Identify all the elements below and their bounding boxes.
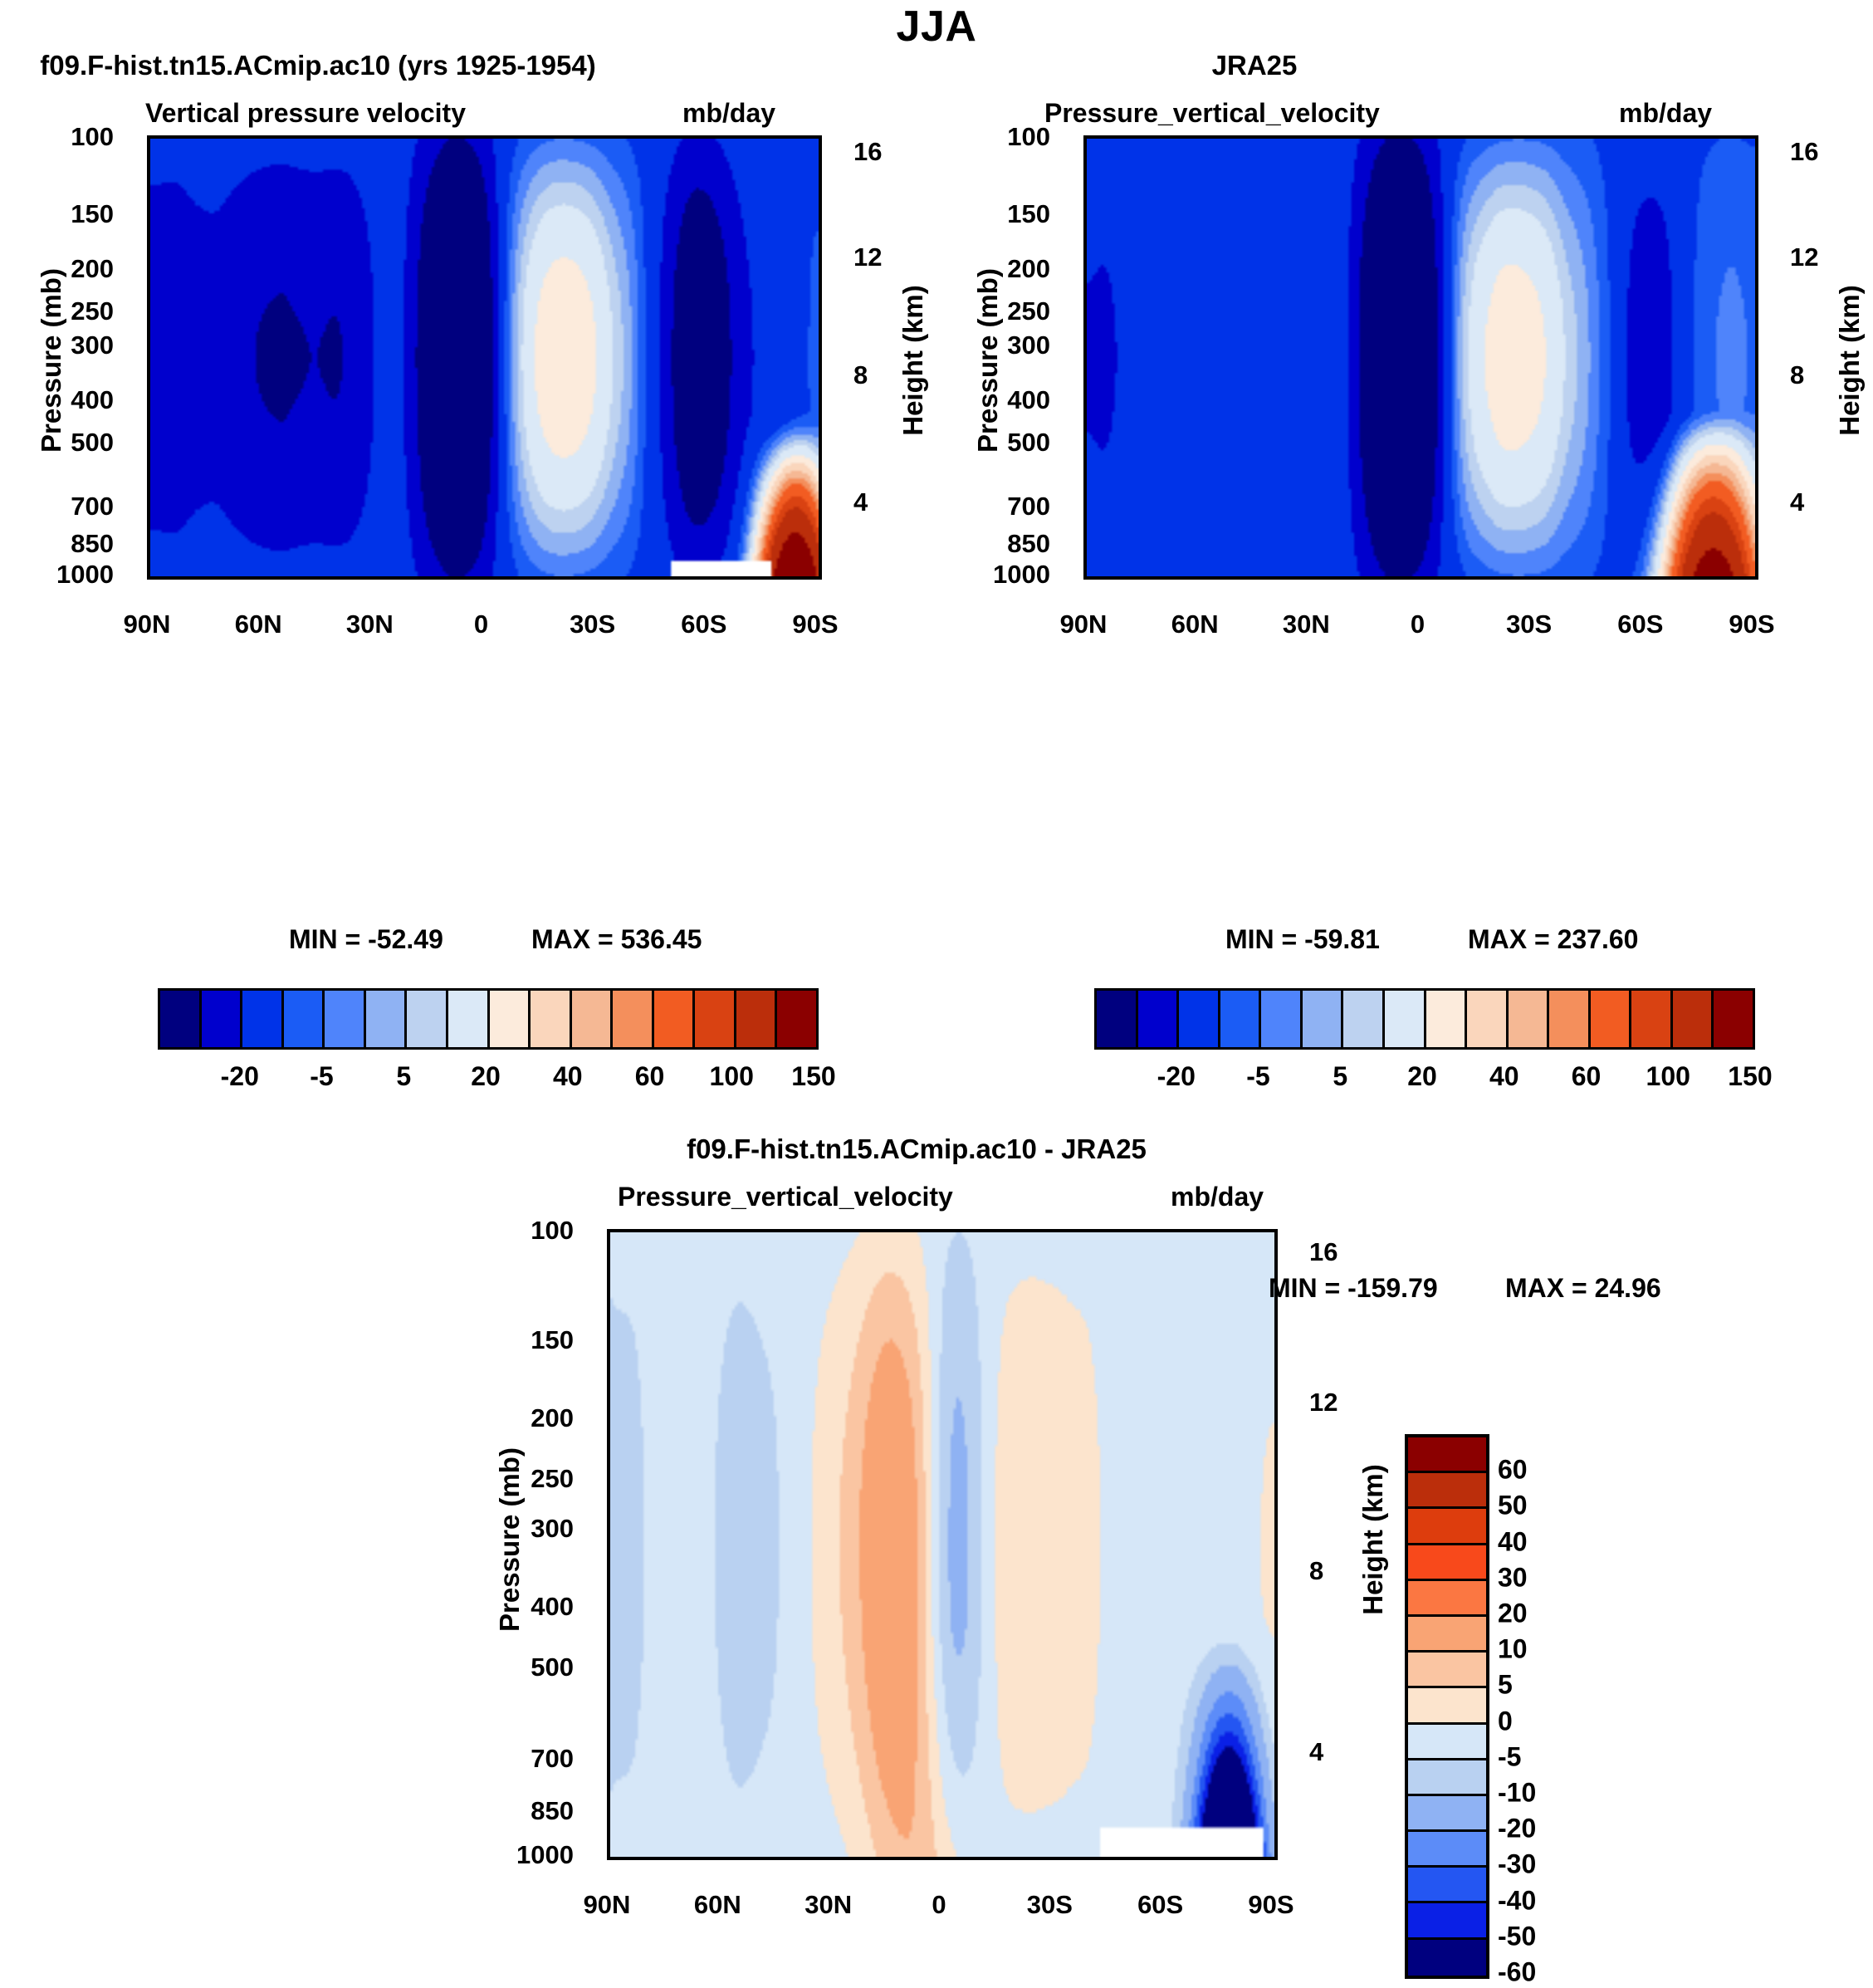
latitude-minor-tick bbox=[1494, 578, 1498, 580]
panel-obs-units-label: mb/day bbox=[1619, 98, 1712, 129]
latitude-minor-tick bbox=[1605, 578, 1609, 580]
latitude-minor-tick bbox=[1122, 135, 1127, 137]
latitude-tick bbox=[830, 1229, 834, 1231]
latitude-minor-tick bbox=[1605, 135, 1609, 137]
colorbar-tick-label: 60 bbox=[635, 1061, 665, 1092]
latitude-minor-tick bbox=[1236, 1229, 1240, 1231]
colorbar-cell[interactable] bbox=[695, 991, 736, 1047]
latitude-tick bbox=[1420, 135, 1424, 137]
latitude-minor-tick bbox=[408, 578, 413, 580]
panel-diff-max-label: MAX = 24.96 bbox=[1505, 1273, 1661, 1304]
pressure-minor-tick bbox=[1083, 187, 1085, 191]
latitude-tick-label: 60N bbox=[1171, 610, 1219, 639]
colorbar-cell[interactable] bbox=[1408, 1509, 1486, 1545]
height-tick bbox=[1757, 257, 1758, 262]
latitude-tick-label: 60S bbox=[681, 610, 726, 639]
pressure-tick-label: 700 bbox=[952, 492, 1050, 521]
panel-model-y-right-axis-title: Height (km) bbox=[897, 236, 929, 485]
pressure-tick bbox=[1083, 544, 1085, 548]
latitude-minor-tick bbox=[1382, 135, 1386, 137]
pressure-tick-label: 200 bbox=[952, 254, 1050, 284]
pressure-tick bbox=[607, 1855, 609, 1859]
latitude-minor-tick bbox=[186, 578, 190, 580]
pressure-tick-label: 150 bbox=[16, 199, 114, 229]
height-tick bbox=[820, 257, 822, 262]
latitude-minor-tick bbox=[1716, 135, 1720, 137]
pressure-tick bbox=[147, 137, 149, 141]
pressure-tick bbox=[1083, 311, 1085, 316]
panel-obs: JRA25 Pressure_vertical_velocity mb/day … bbox=[936, 50, 1873, 1154]
latitude-tick bbox=[1162, 1858, 1166, 1860]
pressure-tick-label: 700 bbox=[16, 492, 114, 521]
panel-model-title: f09.F-hist.tn15.ACmip.ac10 (yrs 1925-195… bbox=[40, 50, 595, 81]
colorbar-cell[interactable] bbox=[490, 991, 531, 1047]
pressure-minor-tick bbox=[147, 375, 149, 379]
colorbar-cell[interactable] bbox=[1408, 1473, 1486, 1509]
latitude-minor-tick bbox=[297, 135, 301, 137]
latitude-minor-tick bbox=[977, 1229, 981, 1231]
pressure-tick-label: 500 bbox=[952, 428, 1050, 458]
height-tick-label: 8 bbox=[1790, 360, 1804, 390]
pressure-tick bbox=[147, 311, 149, 316]
colorbar-tick-label: 50 bbox=[1498, 1491, 1528, 1521]
latitude-minor-tick bbox=[780, 135, 784, 137]
pressure-minor-tick bbox=[1083, 492, 1085, 497]
latitude-minor-tick bbox=[631, 135, 635, 137]
latitude-minor-tick bbox=[1494, 135, 1498, 137]
pressure-tick-label: 400 bbox=[16, 385, 114, 415]
pressure-minor-tick bbox=[147, 520, 149, 524]
latitude-minor-tick bbox=[1236, 1858, 1240, 1860]
latitude-tick-label: 30N bbox=[346, 610, 394, 639]
colorbar-cell[interactable] bbox=[366, 991, 408, 1047]
latitude-minor-tick bbox=[186, 135, 190, 137]
colorbar-tick-label: -20 bbox=[1498, 1814, 1536, 1844]
colorbar-cell[interactable] bbox=[1426, 991, 1468, 1047]
colorbar-cell[interactable] bbox=[777, 991, 816, 1047]
pressure-minor-tick bbox=[607, 1841, 609, 1845]
pressure-tick-label: 300 bbox=[952, 331, 1050, 360]
colorbar-cell[interactable] bbox=[1220, 991, 1262, 1047]
colorbar-tick-label: -20 bbox=[221, 1061, 259, 1092]
colorbar-cell[interactable] bbox=[572, 991, 614, 1047]
pressure-tick-label: 400 bbox=[476, 1592, 574, 1622]
colorbar-tick-label: 40 bbox=[1489, 1061, 1519, 1092]
colorbar-cell[interactable] bbox=[1408, 1688, 1486, 1724]
pressure-minor-tick bbox=[1083, 461, 1085, 465]
pressure-tick-label: 700 bbox=[476, 1744, 574, 1774]
latitude-tick bbox=[817, 135, 821, 137]
colorbar-cell[interactable] bbox=[1408, 1653, 1486, 1688]
latitude-minor-tick bbox=[1716, 578, 1720, 580]
colorbar-cell[interactable] bbox=[1408, 1437, 1486, 1473]
pressure-tick bbox=[607, 1607, 609, 1611]
pressure-minor-tick bbox=[607, 1716, 609, 1721]
latitude-minor-tick bbox=[557, 578, 561, 580]
colorbar-cell[interactable] bbox=[1591, 991, 1632, 1047]
pressure-minor-tick bbox=[1083, 555, 1085, 559]
pressure-tick-label: 500 bbox=[476, 1653, 574, 1682]
latitude-tick-label: 0 bbox=[474, 610, 488, 639]
pressure-tick-label: 400 bbox=[952, 385, 1050, 415]
colorbar-tick-label: 10 bbox=[1498, 1634, 1528, 1665]
colorbar-cell[interactable] bbox=[1549, 991, 1591, 1047]
latitude-tick bbox=[483, 135, 487, 137]
pressure-tick-label: 100 bbox=[952, 122, 1050, 152]
latitude-tick-label: 60S bbox=[1137, 1890, 1183, 1920]
height-tick bbox=[820, 375, 822, 379]
colorbar-cell[interactable] bbox=[1385, 991, 1426, 1047]
latitude-minor-tick bbox=[1199, 1229, 1203, 1231]
pressure-tick bbox=[147, 507, 149, 511]
latitude-tick bbox=[260, 578, 264, 580]
colorbar-cell[interactable] bbox=[1714, 991, 1753, 1047]
colorbar-cell[interactable] bbox=[407, 991, 448, 1047]
panel-model-max-label: MAX = 536.45 bbox=[531, 924, 702, 955]
pressure-tick-label: 250 bbox=[16, 296, 114, 326]
colorbar-cell[interactable] bbox=[531, 991, 572, 1047]
colorbar-cell[interactable] bbox=[1408, 1832, 1486, 1868]
latitude-tick bbox=[1753, 578, 1758, 580]
pressure-minor-tick bbox=[607, 1570, 609, 1574]
pressure-tick-label: 200 bbox=[476, 1403, 574, 1433]
panel-diff-colorbar[interactable] bbox=[1405, 1434, 1489, 1979]
pressure-minor-tick bbox=[607, 1827, 609, 1831]
colorbar-cell[interactable] bbox=[1631, 991, 1673, 1047]
pressure-minor-tick bbox=[147, 532, 149, 536]
latitude-tick bbox=[941, 1858, 945, 1860]
latitude-minor-tick bbox=[645, 1229, 649, 1231]
colorbar-tick-label: 60 bbox=[1572, 1061, 1602, 1092]
colorbar-cell[interactable] bbox=[1408, 1760, 1486, 1796]
latitude-minor-tick bbox=[1088, 1229, 1093, 1231]
pressure-tick-label: 850 bbox=[476, 1796, 574, 1826]
colorbar-tick-label: -20 bbox=[1157, 1061, 1196, 1092]
pressure-tick bbox=[1083, 443, 1085, 447]
latitude-minor-tick bbox=[1015, 1858, 1019, 1860]
pressure-minor-tick bbox=[147, 423, 149, 427]
latitude-tick-label: 30S bbox=[1027, 1890, 1073, 1920]
panel-model: f09.F-hist.tn15.ACmip.ac10 (yrs 1925-195… bbox=[0, 50, 936, 1154]
panel-diff-contour-field bbox=[610, 1232, 1274, 1857]
colorbar-tick-label: 20 bbox=[1407, 1061, 1437, 1092]
colorbar-cell[interactable] bbox=[1408, 1868, 1486, 1903]
latitude-minor-tick bbox=[446, 578, 450, 580]
pressure-tick bbox=[607, 1811, 609, 1815]
pressure-tick-label: 300 bbox=[476, 1514, 574, 1544]
colorbar-cell[interactable] bbox=[613, 991, 654, 1047]
latitude-tick bbox=[1273, 1229, 1277, 1231]
height-tick-label: 4 bbox=[853, 487, 868, 517]
colorbar-cell[interactable] bbox=[1261, 991, 1303, 1047]
latitude-tick bbox=[1196, 135, 1201, 137]
latitude-tick bbox=[594, 578, 599, 580]
latitude-tick bbox=[149, 578, 153, 580]
colorbar-tick-label: -40 bbox=[1498, 1885, 1536, 1916]
height-tick-label: 12 bbox=[1790, 242, 1818, 272]
latitude-tick-label: 0 bbox=[1411, 610, 1425, 639]
pressure-minor-tick bbox=[147, 237, 149, 242]
panel-diff: f09.F-hist.tn15.ACmip.ac10 - JRA25 Press… bbox=[468, 1134, 1405, 1972]
latitude-minor-tick bbox=[446, 135, 450, 137]
latitude-minor-tick bbox=[780, 578, 784, 580]
latitude-minor-tick bbox=[1680, 578, 1684, 580]
pressure-tick-label: 1000 bbox=[476, 1840, 574, 1870]
panel-diff-title: f09.F-hist.tn15.ACmip.ac10 - JRA25 bbox=[687, 1134, 1147, 1165]
pressure-minor-tick bbox=[147, 461, 149, 465]
height-tick-label: 8 bbox=[1309, 1556, 1323, 1586]
height-tick-label: 12 bbox=[853, 242, 882, 272]
colorbar-cell[interactable] bbox=[1408, 1940, 1486, 1976]
colorbar-cell[interactable] bbox=[325, 991, 366, 1047]
pressure-tick bbox=[607, 1418, 609, 1422]
pressure-minor-tick bbox=[147, 477, 149, 482]
pressure-tick-label: 250 bbox=[952, 296, 1050, 326]
pressure-tick bbox=[147, 443, 149, 447]
latitude-minor-tick bbox=[1456, 135, 1460, 137]
latitude-minor-tick bbox=[668, 578, 672, 580]
pressure-minor-tick bbox=[1083, 259, 1085, 263]
colorbar-cell[interactable] bbox=[654, 991, 696, 1047]
latitude-tick bbox=[149, 135, 153, 137]
pressure-minor-tick bbox=[607, 1693, 609, 1697]
latitude-tick bbox=[1642, 578, 1646, 580]
latitude-minor-tick bbox=[1271, 578, 1275, 580]
pressure-minor-tick bbox=[607, 1405, 609, 1409]
colorbar-cell[interactable] bbox=[1408, 1725, 1486, 1760]
latitude-tick bbox=[1162, 1229, 1166, 1231]
latitude-tick bbox=[1531, 135, 1535, 137]
colorbar-cell[interactable] bbox=[1408, 1796, 1486, 1832]
latitude-minor-tick bbox=[520, 578, 524, 580]
panel-diff-min-label: MIN = -159.79 bbox=[1269, 1273, 1438, 1304]
pressure-tick bbox=[147, 269, 149, 273]
latitude-minor-tick bbox=[1345, 578, 1349, 580]
pressure-tick bbox=[147, 400, 149, 404]
latitude-minor-tick bbox=[1271, 135, 1275, 137]
panel-obs-colorbar[interactable] bbox=[1094, 988, 1755, 1050]
pressure-tick bbox=[1083, 214, 1085, 218]
latitude-tick-label: 30S bbox=[570, 610, 615, 639]
colorbar-tick-label: 5 bbox=[1498, 1670, 1513, 1701]
colorbar-tick-label: 60 bbox=[1498, 1455, 1528, 1486]
colorbar-cell[interactable] bbox=[1408, 1617, 1486, 1653]
latitude-tick-label: 0 bbox=[932, 1890, 946, 1920]
panel-obs-y-right-axis-title: Height (km) bbox=[1834, 236, 1866, 485]
panel-obs-min-label: MIN = -59.81 bbox=[1225, 924, 1380, 955]
latitude-tick bbox=[1420, 578, 1424, 580]
latitude-tick bbox=[594, 135, 599, 137]
latitude-minor-tick bbox=[1088, 1858, 1093, 1860]
colorbar-tick-label: 20 bbox=[471, 1061, 501, 1092]
latitude-tick bbox=[1196, 578, 1201, 580]
colorbar-cell[interactable] bbox=[1673, 991, 1714, 1047]
latitude-minor-tick bbox=[1456, 578, 1460, 580]
height-tick-label: 8 bbox=[853, 360, 868, 390]
pressure-tick bbox=[607, 1529, 609, 1533]
latitude-tick-label: 60N bbox=[235, 610, 282, 639]
colorbar-cell[interactable] bbox=[1408, 1581, 1486, 1617]
latitude-tick bbox=[1642, 135, 1646, 137]
colorbar-cell[interactable] bbox=[1303, 991, 1344, 1047]
panel-obs-contour-field bbox=[1087, 139, 1755, 576]
latitude-minor-tick bbox=[335, 135, 339, 137]
colorbar-cell[interactable] bbox=[1179, 991, 1220, 1047]
pressure-minor-tick bbox=[147, 259, 149, 263]
height-tick bbox=[1276, 1252, 1278, 1256]
colorbar-tick-label: 20 bbox=[1498, 1599, 1528, 1629]
pressure-minor-tick bbox=[607, 1638, 609, 1643]
pressure-tick-label: 300 bbox=[16, 331, 114, 360]
pressure-tick bbox=[607, 1479, 609, 1483]
pressure-minor-tick bbox=[1083, 201, 1085, 205]
pressure-minor-tick bbox=[147, 565, 149, 569]
latitude-tick bbox=[1051, 1229, 1055, 1231]
colorbar-cell[interactable] bbox=[1509, 991, 1550, 1047]
pressure-tick bbox=[1083, 345, 1085, 350]
panel-obs-plot[interactable] bbox=[1083, 135, 1758, 580]
pressure-minor-tick bbox=[607, 1302, 609, 1306]
latitude-tick bbox=[706, 135, 710, 137]
pressure-minor-tick bbox=[607, 1280, 609, 1285]
pressure-tick bbox=[1083, 137, 1085, 141]
latitude-tick-label: 30S bbox=[1506, 610, 1552, 639]
latitude-tick bbox=[371, 135, 375, 137]
latitude-tick-label: 90N bbox=[124, 610, 171, 639]
colorbar-cell[interactable] bbox=[1408, 1903, 1486, 1939]
colorbar-cell[interactable] bbox=[448, 991, 490, 1047]
panel-model-plot[interactable] bbox=[147, 135, 822, 580]
pressure-minor-tick bbox=[147, 249, 149, 253]
latitude-minor-tick bbox=[1567, 135, 1572, 137]
colorbar-cell[interactable] bbox=[1467, 991, 1509, 1047]
latitude-tick bbox=[706, 578, 710, 580]
colorbar-cell[interactable] bbox=[160, 991, 202, 1047]
pressure-minor-tick bbox=[1083, 237, 1085, 242]
colorbar-tick-label: -60 bbox=[1498, 1957, 1536, 1988]
colorbar-tick-label: -5 bbox=[310, 1061, 333, 1092]
colorbar-cell[interactable] bbox=[242, 991, 284, 1047]
latitude-tick bbox=[830, 1858, 834, 1860]
height-tick bbox=[1757, 152, 1758, 156]
pressure-tick bbox=[147, 575, 149, 579]
panel-diff-plot[interactable] bbox=[607, 1229, 1278, 1860]
panel-model-units-label: mb/day bbox=[682, 98, 775, 129]
latitude-minor-tick bbox=[1345, 135, 1349, 137]
pressure-minor-tick bbox=[1083, 520, 1085, 524]
panel-diff-y-right-axis-title: Height (km) bbox=[1357, 1415, 1389, 1664]
colorbar-tick-label: 5 bbox=[1333, 1061, 1347, 1092]
panel-model-colorbar[interactable] bbox=[158, 988, 819, 1050]
pressure-tick bbox=[147, 544, 149, 548]
latitude-tick bbox=[817, 578, 821, 580]
colorbar-cell[interactable] bbox=[1138, 991, 1180, 1047]
colorbar-cell[interactable] bbox=[1408, 1545, 1486, 1581]
panel-obs-max-label: MAX = 237.60 bbox=[1468, 924, 1638, 955]
panel-obs-title: JRA25 bbox=[1212, 50, 1298, 81]
panel-model-variable-label: Vertical pressure velocity bbox=[145, 98, 466, 129]
figure-season-title: JJA bbox=[0, 2, 1873, 51]
latitude-minor-tick bbox=[904, 1858, 908, 1860]
latitude-tick bbox=[1273, 1858, 1277, 1860]
pressure-minor-tick bbox=[1083, 532, 1085, 536]
pressure-minor-tick bbox=[1083, 249, 1085, 253]
latitude-minor-tick bbox=[743, 135, 747, 137]
latitude-minor-tick bbox=[1680, 135, 1684, 137]
latitude-tick bbox=[483, 578, 487, 580]
colorbar-tick-label: -5 bbox=[1246, 1061, 1269, 1092]
latitude-minor-tick bbox=[297, 578, 301, 580]
colorbar-tick-label: 150 bbox=[1728, 1061, 1772, 1092]
latitude-minor-tick bbox=[335, 578, 339, 580]
panel-diff-colorbar-labels: 60504030201050-5-10-20-30-40-50-60 bbox=[1498, 1434, 1647, 1972]
colorbar-tick-label: 5 bbox=[396, 1061, 411, 1092]
height-tick-label: 4 bbox=[1790, 487, 1804, 517]
latitude-minor-tick bbox=[557, 135, 561, 137]
colorbar-cell[interactable] bbox=[736, 991, 778, 1047]
pressure-tick-label: 100 bbox=[476, 1216, 574, 1246]
height-tick bbox=[820, 502, 822, 507]
height-tick-label: 12 bbox=[1309, 1388, 1338, 1418]
pressure-minor-tick bbox=[607, 1322, 609, 1326]
latitude-minor-tick bbox=[867, 1229, 871, 1231]
pressure-minor-tick bbox=[607, 1795, 609, 1799]
latitude-tick-label: 90S bbox=[792, 610, 838, 639]
latitude-minor-tick bbox=[793, 1229, 797, 1231]
pressure-tick-label: 850 bbox=[952, 529, 1050, 559]
latitude-tick bbox=[609, 1229, 613, 1231]
pressure-tick-label: 200 bbox=[16, 254, 114, 284]
latitude-minor-tick bbox=[682, 1229, 687, 1231]
pressure-tick bbox=[1083, 507, 1085, 511]
panel-model-contour-field bbox=[150, 139, 819, 576]
latitude-tick bbox=[1308, 578, 1312, 580]
latitude-minor-tick bbox=[743, 578, 747, 580]
latitude-tick bbox=[719, 1229, 723, 1231]
latitude-minor-tick bbox=[977, 1858, 981, 1860]
pressure-minor-tick bbox=[607, 1390, 609, 1394]
latitude-minor-tick bbox=[631, 578, 635, 580]
height-tick bbox=[820, 152, 822, 156]
height-tick bbox=[1276, 1752, 1278, 1756]
colorbar-cell[interactable] bbox=[284, 991, 325, 1047]
colorbar-cell[interactable] bbox=[1343, 991, 1385, 1047]
latitude-minor-tick bbox=[408, 135, 413, 137]
height-tick-label: 16 bbox=[1309, 1237, 1338, 1267]
pressure-tick bbox=[147, 214, 149, 218]
pressure-tick-label: 850 bbox=[16, 529, 114, 559]
latitude-minor-tick bbox=[682, 1858, 687, 1860]
height-tick-label: 16 bbox=[1790, 137, 1818, 167]
latitude-minor-tick bbox=[756, 1229, 760, 1231]
pressure-tick bbox=[1083, 575, 1085, 579]
pressure-tick bbox=[607, 1667, 609, 1672]
latitude-minor-tick bbox=[1234, 135, 1238, 137]
latitude-minor-tick bbox=[1382, 578, 1386, 580]
colorbar-cell[interactable] bbox=[202, 991, 243, 1047]
pressure-tick-label: 1000 bbox=[16, 560, 114, 590]
colorbar-cell[interactable] bbox=[1097, 991, 1138, 1047]
colorbar-tick-label: 100 bbox=[1646, 1061, 1690, 1092]
latitude-minor-tick bbox=[904, 1229, 908, 1231]
latitude-tick-label: 60N bbox=[694, 1890, 741, 1920]
colorbar-tick-label: -10 bbox=[1498, 1778, 1536, 1809]
latitude-tick bbox=[260, 135, 264, 137]
pressure-minor-tick bbox=[147, 201, 149, 205]
latitude-tick bbox=[1085, 135, 1089, 137]
latitude-minor-tick bbox=[223, 578, 227, 580]
latitude-minor-tick bbox=[1122, 578, 1127, 580]
